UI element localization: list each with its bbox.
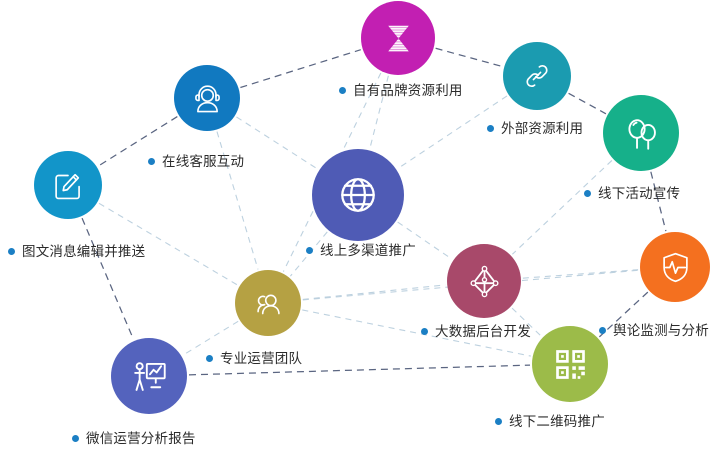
- node-online-service[interactable]: [174, 65, 240, 131]
- label-external-resource: 外部资源利用: [487, 122, 583, 136]
- edge-external-resource-to-offline-event: [569, 93, 606, 113]
- node-qr-promotion[interactable]: [532, 326, 608, 402]
- bullet-dot-icon: [584, 190, 591, 197]
- node-external-resource[interactable]: [503, 42, 571, 110]
- label-text: 外部资源利用: [501, 122, 583, 136]
- bullet-dot-icon: [421, 328, 428, 335]
- globe-icon: [332, 169, 384, 221]
- bullet-dot-icon: [72, 435, 79, 442]
- edge-big-data-to-sentiment-monitor: [523, 270, 638, 278]
- label-text: 专业运营团队: [220, 352, 302, 366]
- qr-code-icon: [549, 343, 592, 386]
- edge-operations-team-to-big-data: [303, 285, 445, 300]
- label-text: 大数据后台开发: [435, 325, 531, 339]
- label-analytics-report: 微信运营分析报告: [72, 432, 196, 446]
- edge-brand-resource-to-external-resource: [436, 48, 503, 66]
- node-big-data[interactable]: [447, 244, 521, 318]
- presentation-chart-icon: [128, 355, 171, 398]
- label-text: 自有品牌资源利用: [353, 84, 463, 98]
- edge-analytics-report-to-qr-promotion: [189, 365, 530, 375]
- label-brand-resource: 自有品牌资源利用: [339, 84, 463, 98]
- node-analytics-report[interactable]: [111, 338, 187, 414]
- label-text: 线下二维码推广: [509, 415, 605, 429]
- edge-online-service-to-multi-channel: [236, 117, 317, 169]
- node-multi-channel[interactable]: [312, 149, 404, 241]
- capability-map-canvas: 图文消息编辑并推送在线客服互动自有品牌资源利用外部资源利用线下活动宣传线上多渠道…: [0, 0, 727, 449]
- label-online-service: 在线客服互动: [148, 155, 244, 169]
- bullet-dot-icon: [206, 355, 213, 362]
- label-text: 图文消息编辑并推送: [22, 245, 145, 259]
- bullet-dot-icon: [339, 87, 346, 94]
- bullet-dot-icon: [487, 125, 494, 132]
- label-text: 线下活动宣传: [598, 187, 680, 201]
- hourglass-brand-icon: [378, 18, 419, 59]
- label-multi-channel: 线上多渠道推广: [306, 244, 416, 258]
- link-chain-icon: [518, 57, 556, 95]
- node-sentiment-monitor[interactable]: [640, 232, 710, 302]
- people-team-icon: [250, 285, 287, 322]
- edge-online-service-to-brand-resource: [240, 50, 360, 88]
- edit-note-icon: [49, 166, 87, 204]
- edge-content-editor-to-analytics-report: [82, 218, 133, 339]
- label-qr-promotion: 线下二维码推广: [495, 415, 605, 429]
- node-operations-team[interactable]: [235, 270, 301, 336]
- label-offline-event: 线下活动宣传: [584, 187, 680, 201]
- node-offline-event[interactable]: [603, 95, 679, 171]
- label-text: 舆论监测与分析: [613, 324, 709, 338]
- label-text: 微信运营分析报告: [86, 432, 196, 446]
- balloons-icon: [620, 112, 663, 155]
- label-sentiment-monitor: 舆论监测与分析: [599, 324, 709, 338]
- bullet-dot-icon: [495, 418, 502, 425]
- label-text: 线上多渠道推广: [320, 244, 416, 258]
- edge-online-service-to-operations-team: [217, 132, 258, 270]
- bullet-dot-icon: [306, 247, 313, 254]
- edge-offline-event-to-sentiment-monitor: [651, 172, 666, 231]
- label-text: 在线客服互动: [162, 155, 244, 169]
- node-content-editor[interactable]: [34, 151, 102, 219]
- headset-support-icon: [189, 80, 226, 117]
- bullet-dot-icon: [8, 248, 15, 255]
- label-operations-team: 专业运营团队: [206, 352, 302, 366]
- bullet-dot-icon: [599, 327, 606, 334]
- shield-pulse-icon: [656, 248, 695, 287]
- node-brand-resource[interactable]: [361, 1, 435, 75]
- network-graph-icon: [464, 261, 505, 302]
- label-big-data: 大数据后台开发: [421, 325, 531, 339]
- label-content-editor: 图文消息编辑并推送: [8, 245, 145, 259]
- edge-offline-event-to-big-data: [512, 160, 612, 254]
- bullet-dot-icon: [148, 158, 155, 165]
